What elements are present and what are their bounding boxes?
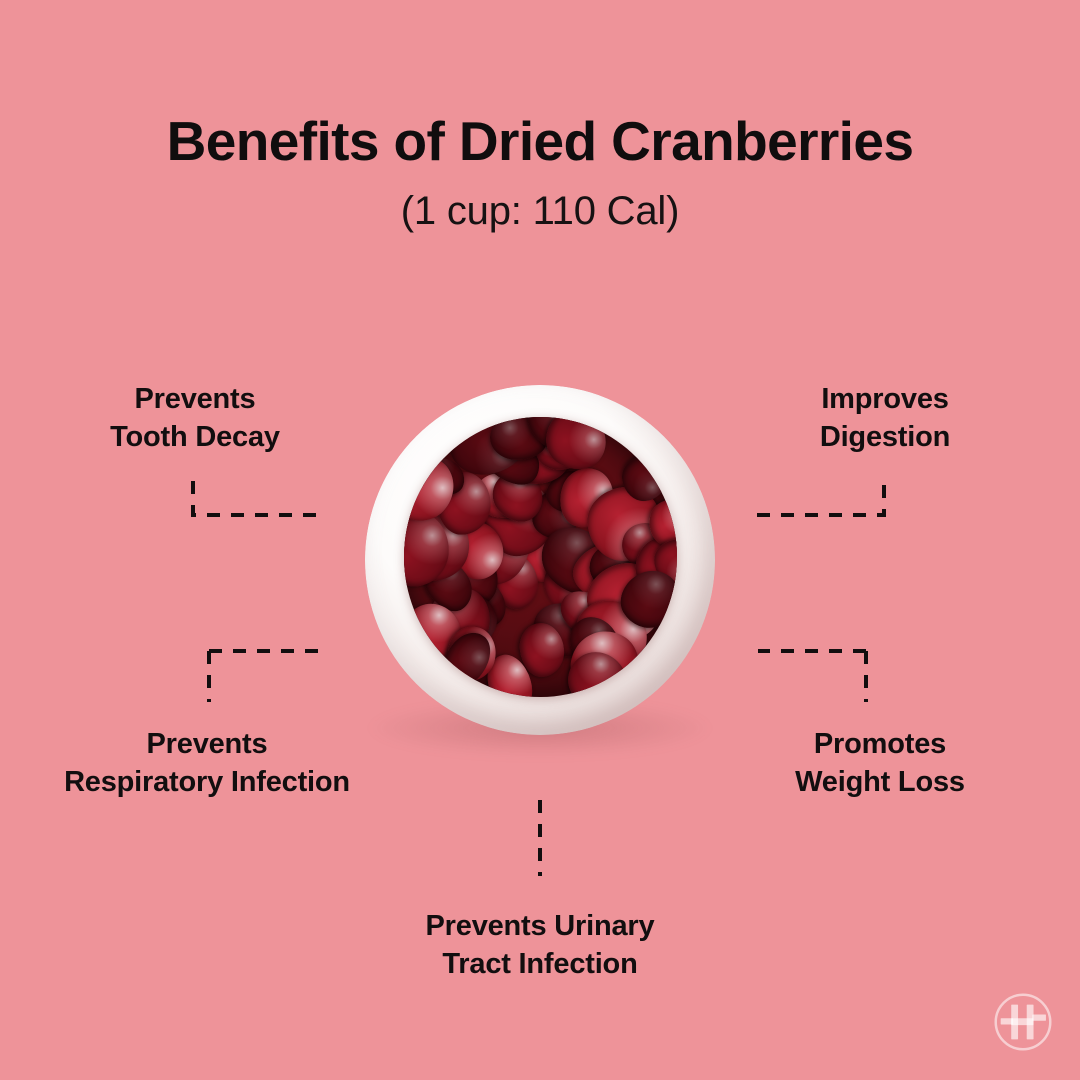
bowl-ceramic [365,385,715,735]
connector-respiratory [209,651,324,702]
benefit-label-weight-loss: Promotes Weight Loss [680,726,1080,801]
benefit-label-urinary: Prevents Urinary Tract Infection [340,908,740,983]
benefit-label-respiratory: Prevents Respiratory Infection [0,726,414,801]
connector-tooth-decay [193,481,322,515]
connector-weight-loss [758,651,866,702]
page-subtitle: (1 cup: 110 Cal) [0,189,1080,233]
infographic-canvas: Benefits of Dried Cranberries (1 cup: 11… [0,0,1080,1080]
connector-digestion [757,481,884,515]
header: Benefits of Dried Cranberries (1 cup: 11… [0,112,1080,233]
benefit-label-digestion: Improves Digestion [690,381,1080,456]
bowl-interior [404,417,677,697]
cranberry-bowl-image [365,385,715,735]
page-title: Benefits of Dried Cranberries [0,112,1080,171]
dried-cranberries [404,417,677,697]
h-monogram-circle-logo-icon [992,991,1054,1053]
benefit-label-tooth-decay: Prevents Tooth Decay [0,381,390,456]
